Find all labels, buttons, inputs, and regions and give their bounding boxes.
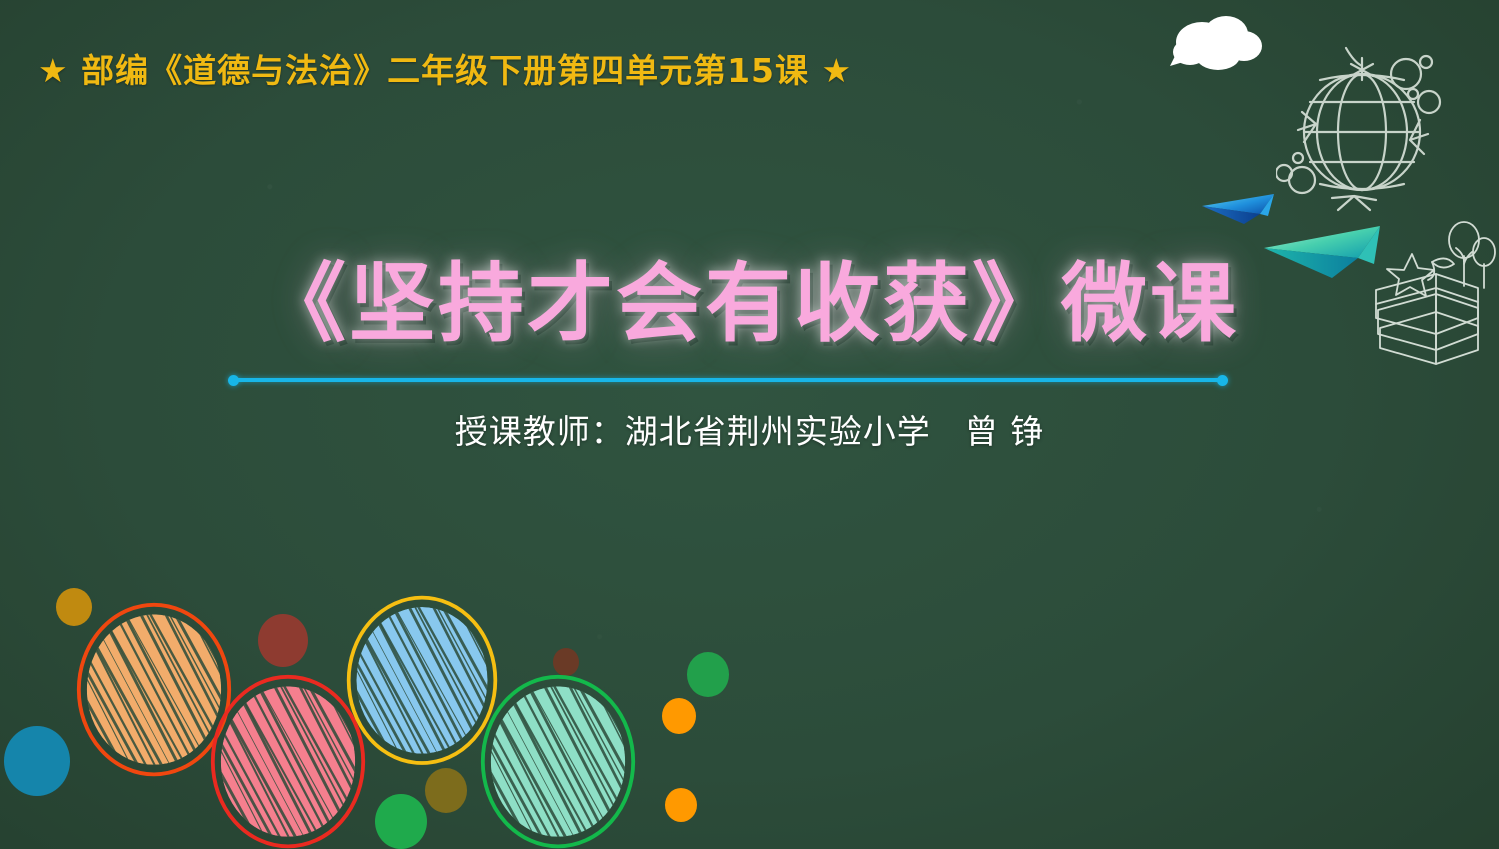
presentation-slide: ★ 部编《道德与法治》二年级下册第四单元第15课 ★ [0, 0, 1499, 849]
dot-orange-2 [665, 788, 697, 822]
lesson-meta-header: ★ 部编《道德与法治》二年级下册第四单元第15课 ★ [38, 44, 852, 92]
dot-green-2 [687, 652, 729, 697]
divider-bar [236, 378, 1220, 382]
dot-teal [4, 726, 70, 796]
slide-title: 《坚持才会有收获》微课 [0, 258, 1499, 351]
title-divider [228, 375, 1228, 385]
dot-brown [258, 614, 308, 667]
paper-plane-blue-icon [1200, 190, 1280, 230]
cloud-icon [1168, 10, 1268, 80]
divider-dot-right [1217, 375, 1228, 386]
scribble-circle-blue [344, 593, 500, 768]
dot-olive [425, 768, 467, 813]
title-block: 《坚持才会有收获》微课 [0, 258, 1499, 351]
dot-orange [662, 698, 696, 734]
dot-green [375, 794, 427, 849]
chalk-globe-icon [1276, 28, 1448, 218]
scribble-circle-mint [478, 672, 638, 849]
instructor-subtitle: 授课教师：湖北省荆州实验小学 曾 铮 [0, 405, 1499, 453]
